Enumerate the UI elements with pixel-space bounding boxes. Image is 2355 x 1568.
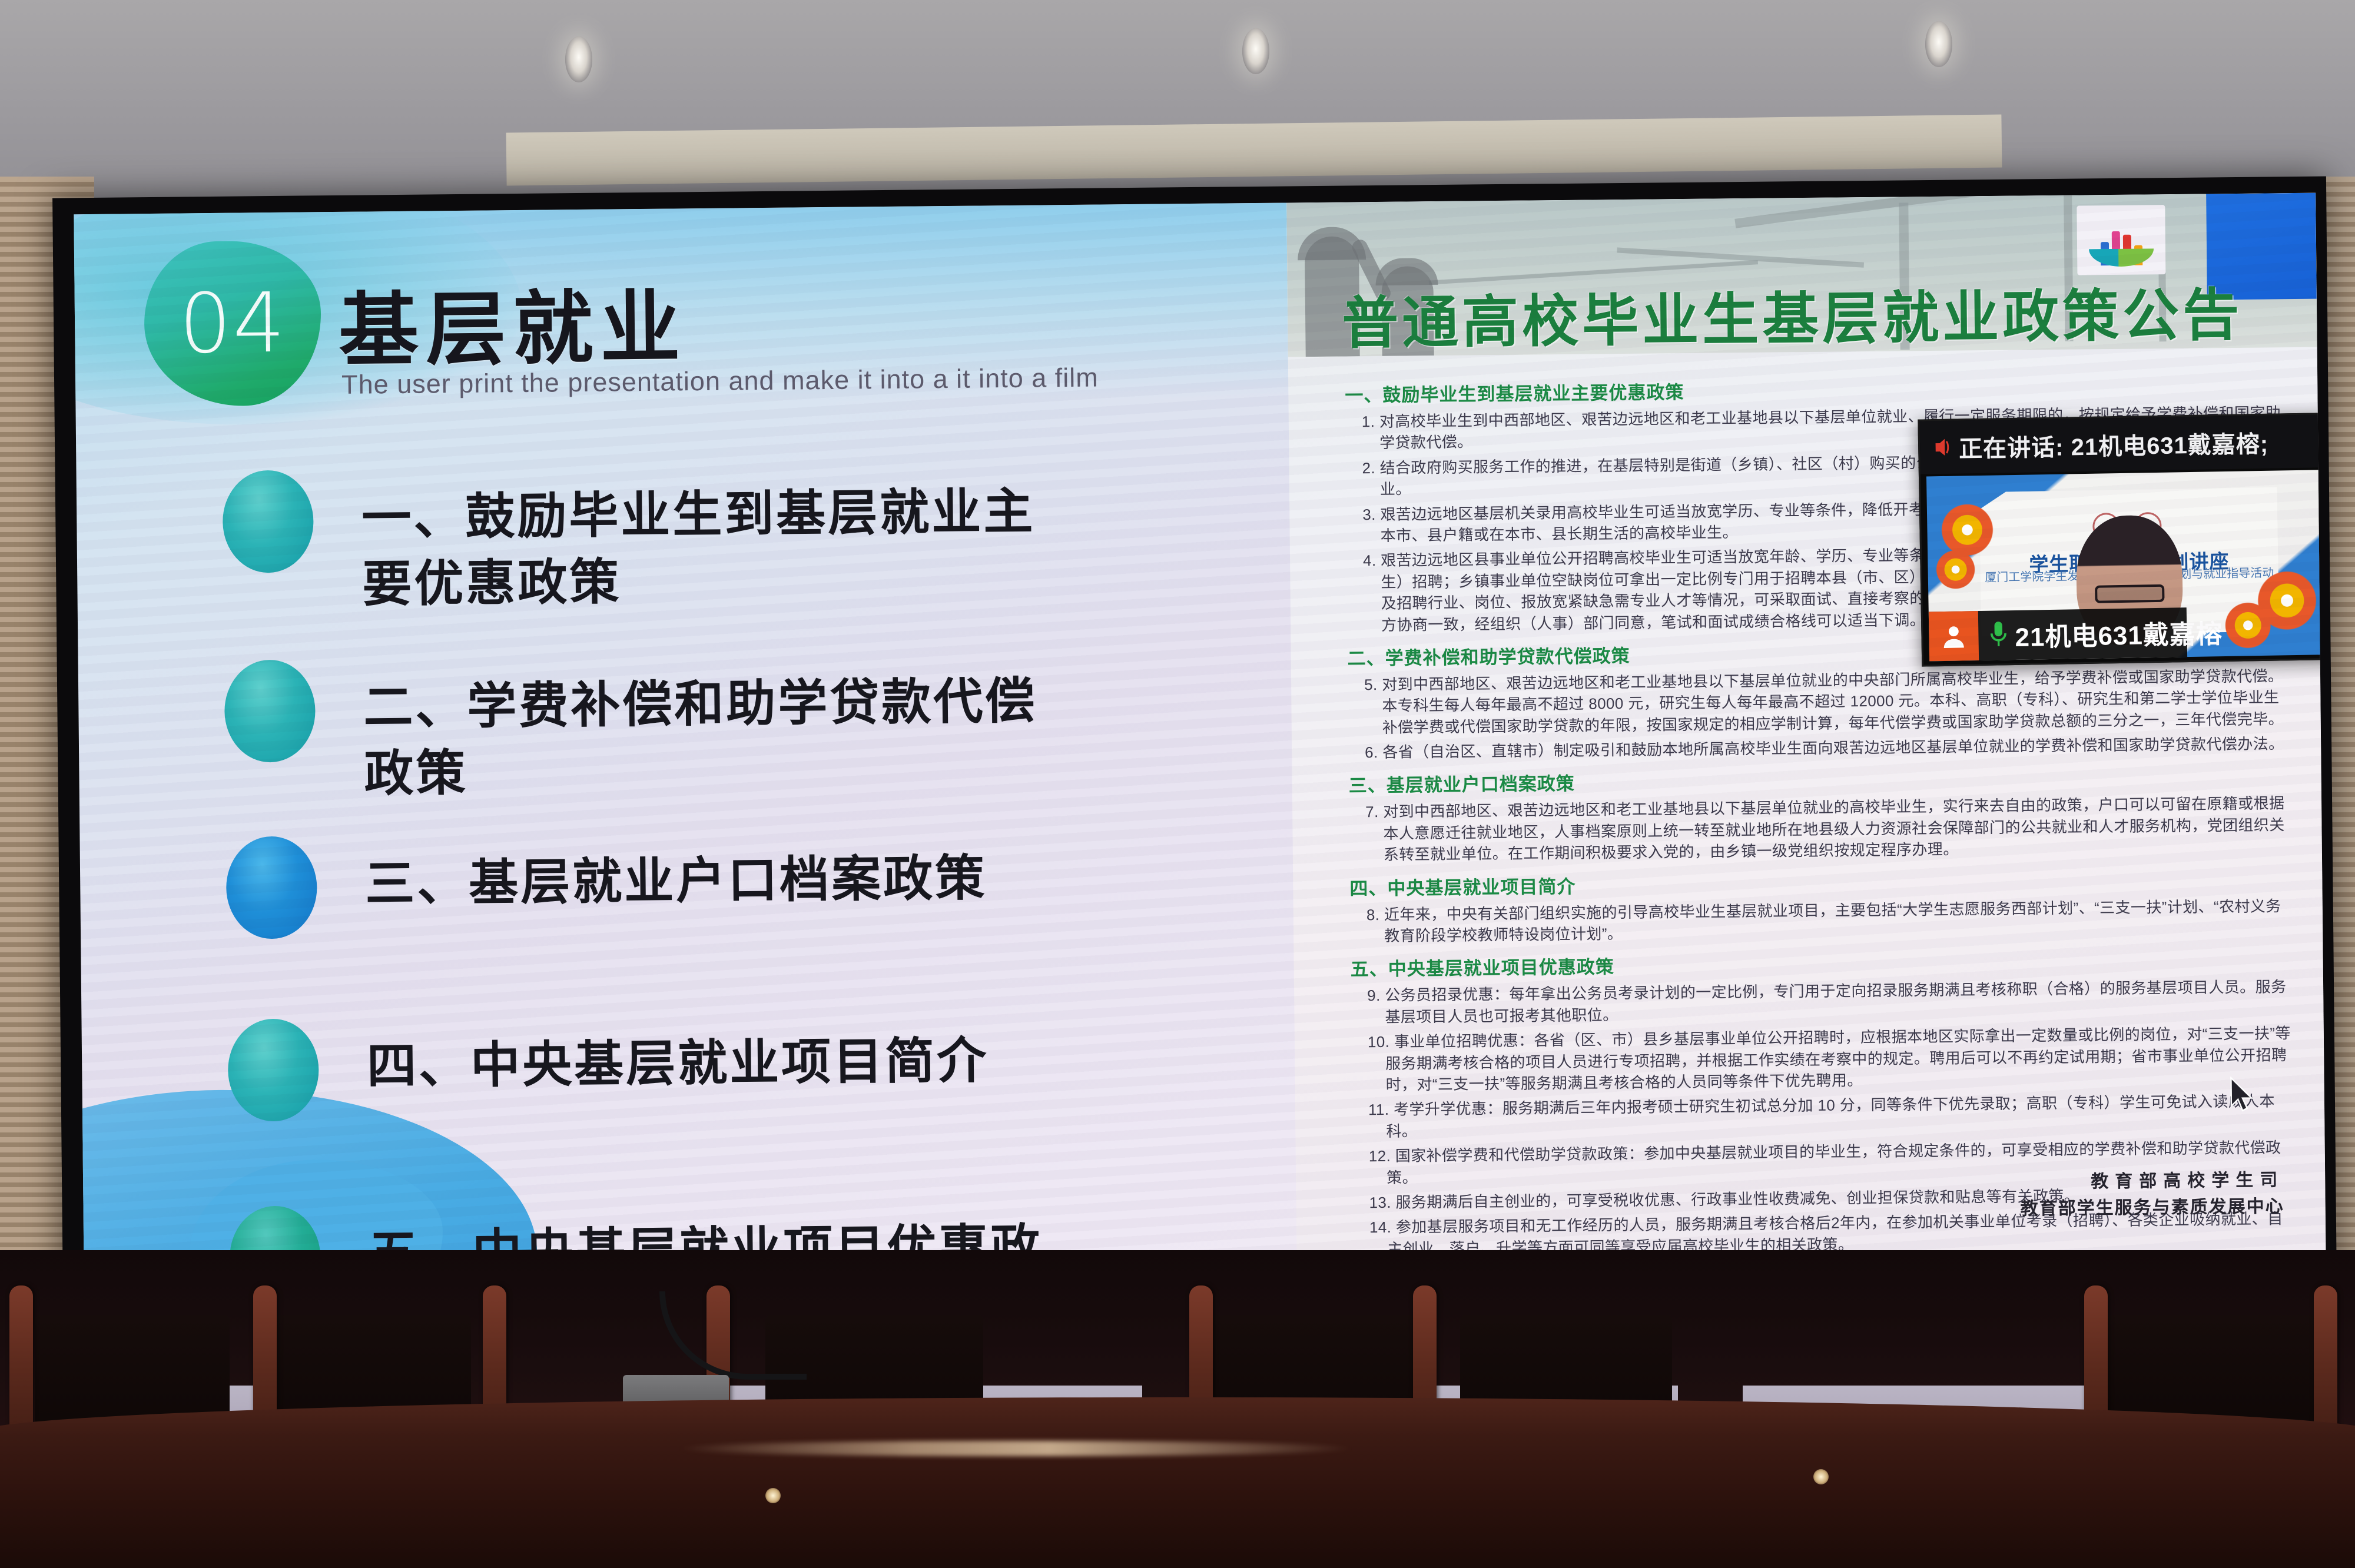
document-footer-line-1: 教育部高校学生司 — [2020, 1167, 2284, 1195]
bullet-dot-icon — [224, 659, 316, 762]
list-item: 三、基层就业户口档案政策 — [225, 828, 1192, 939]
slide-left-panel: 04 基层就业 The user print the presentation … — [74, 202, 1296, 1291]
bullet-label: 二、学费补偿和助学贷款代偿政策 — [363, 653, 1041, 807]
ceiling-light — [1925, 21, 1952, 67]
bullet-dot-icon — [223, 470, 314, 573]
video-participant-tile[interactable]: 正在讲话: 21机电631戴嘉榕; 学生职业生涯规划讲座 厦门工学院学生发展中心… — [1918, 413, 2326, 667]
document-paragraph: 11. 考学升学优惠：服务期满后三年内报考硕士研究生初试总分加 10 分，同等条… — [1368, 1090, 2297, 1142]
bullet-label: 一、鼓励毕业生到基层就业主要优惠政策 — [361, 463, 1040, 617]
slide-bullet-list: 一、鼓励毕业生到基层就业主要优惠政策 二、学费补偿和助学贷款代偿政策 三、基层就… — [74, 202, 1296, 1291]
document-paragraph: 10. 事业单位招聘优惠：各省（区、市）县乡基层事业单位公开招聘时，应根据本地区… — [1368, 1022, 2296, 1095]
ceiling-light — [1242, 28, 1269, 74]
document-section-heading: 一、鼓励毕业生到基层就业主要优惠政策 — [1345, 371, 2289, 407]
video-tile-speaking-bar: 正在讲话: 21机电631戴嘉榕; — [1919, 414, 2326, 474]
list-item: 四、中央基层就业项目简介 — [227, 1010, 1194, 1122]
table-glare — [677, 1441, 1354, 1456]
projection-screen-bezel: 04 基层就业 The user print the presentation … — [52, 177, 2337, 1305]
bullet-label: 三、基层就业户口档案政策 — [364, 829, 987, 917]
video-tile-feed: 学生职业生涯规划讲座 厦门工学院学生发展中心 职业生涯 规划与就业指导活动 — [1926, 470, 2326, 661]
list-item: 一、鼓励毕业生到基层就业主要优惠政策 — [223, 461, 1189, 619]
list-item: 二、学费补偿和助学贷款代偿政策 — [224, 651, 1191, 808]
bullet-dot-icon — [227, 1018, 319, 1121]
document-section-heading: 五、中央基层就业项目优惠政策 — [1351, 946, 2295, 981]
flower-decoration-icon — [1932, 546, 1979, 593]
speaker-icon — [1931, 433, 1951, 462]
organization-logo-icon — [2077, 205, 2165, 275]
projection-screen: 04 基层就业 The user print the presentation … — [74, 193, 2326, 1291]
flower-decoration-icon — [2220, 598, 2276, 653]
conference-room-scene: 04 基层就业 The user print the presentation … — [0, 0, 2355, 1568]
document-paragraph: 8. 近年来，中央有关部门组织实施的引导高校毕业生基层就业项目，主要包括“大学生… — [1366, 895, 2295, 947]
document-paragraph: 5. 对到中西部地区、艰苦边远地区和老工业基地县以下基层单位就业的中央部门所属高… — [1364, 665, 2293, 738]
conference-table — [0, 1397, 2355, 1568]
ceiling-light — [565, 36, 592, 82]
policy-document-panel: 普通高校毕业生基层就业政策公告 一、鼓励毕业生到基层就业主要优惠政策 1. 对高… — [1286, 193, 2326, 1280]
video-tile-participant-name: 21机电631戴嘉榕 — [2015, 613, 2223, 654]
video-tile-speaking-label: 正在讲话: 21机电631戴嘉榕; — [1959, 425, 2269, 464]
person-icon — [1929, 611, 1979, 661]
table-reflection-dot — [1813, 1469, 1829, 1484]
document-footer: 教育部高校学生司 教育部学生服务与素质发展中心 — [2020, 1167, 2284, 1222]
document-title: 普通高校毕业生基层就业政策公告 — [1341, 269, 2243, 360]
video-tile-name-bar: 21机电631戴嘉榕 — [1929, 607, 2187, 661]
bullet-dot-icon — [225, 836, 317, 939]
document-section-heading: 四、中央基层就业项目简介 — [1349, 865, 2294, 900]
document-paragraph: 7. 对到中西部地区、艰苦边远地区和老工业基地县以下基层单位就业的高校毕业生，实… — [1365, 793, 2294, 866]
table-reflection-dot — [765, 1488, 781, 1503]
glasses-icon — [2095, 584, 2164, 603]
document-footer-line-2: 教育部学生服务与素质发展中心 — [2020, 1193, 2284, 1222]
document-section-heading: 三、基层就业户口档案政策 — [1349, 762, 2293, 798]
logo-hill — [2089, 248, 2154, 267]
document-paragraph: 9. 公务员招录优惠：每年拿出公务员考录计划的一定比例，专门用于定向招录服务期满… — [1367, 976, 2296, 1028]
crane-beam — [1734, 193, 2010, 228]
mic-icon — [1986, 619, 2011, 652]
conference-furniture — [0, 1250, 2355, 1568]
bullet-label: 四、中央基层就业项目简介 — [366, 1012, 989, 1099]
document-paragraph: 6. 各省（自治区、直辖市）制定吸引和鼓励本地所属高校毕业生面向艰苦边远地区基层… — [1365, 733, 2293, 763]
